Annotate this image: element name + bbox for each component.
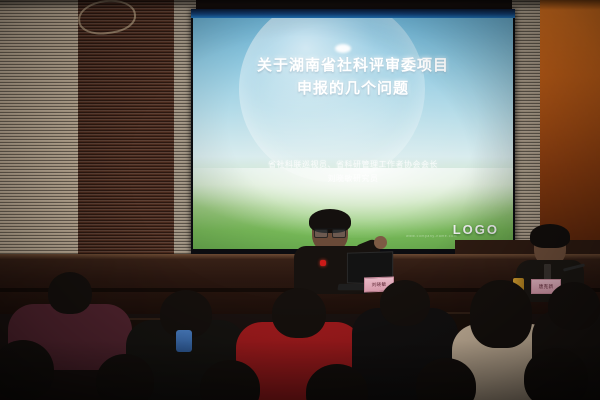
audience-member-head <box>48 272 92 314</box>
slide-subtitle-line-2: 刘晓敏研究员 <box>193 172 513 186</box>
audience-member-head <box>0 340 54 400</box>
slide-subtitle-line-1: 省社科联巡视员、省科研管理工作者协会会长 <box>193 158 513 172</box>
audience-member-head <box>524 348 588 400</box>
audience-member-head <box>470 280 532 348</box>
water-bottle <box>176 330 192 352</box>
audience-member-head <box>548 282 600 330</box>
wall-panel-dark-wood <box>78 0 174 268</box>
panelist-hair <box>530 224 570 248</box>
audience-member-head <box>272 288 326 338</box>
wall-strip-right <box>512 0 540 262</box>
slide-subtitle: 省社科联巡视员、省科研管理工作者协会会长 刘晓敏研究员 <box>193 158 513 186</box>
conference-hall-photo: 关于湖南省社科评审委项目 申报的几个问题 省社科联巡视员、省科研管理工作者协会会… <box>0 0 600 400</box>
audience-area <box>0 268 600 400</box>
glasses-icon <box>314 228 346 235</box>
slide-title-line-2: 申报的几个问题 <box>193 77 513 100</box>
bubble-highlight-icon <box>335 44 351 53</box>
slide-logo-subtext: www.company-name.com <box>406 234 457 238</box>
audience-member-head <box>380 280 430 326</box>
wall-panel-pale-wood <box>0 0 78 268</box>
slide-logo-text: LOGO <box>453 222 499 237</box>
slide-title: 关于湖南省社科评审委项目 申报的几个问题 <box>193 54 513 101</box>
audience-member-head <box>96 354 154 400</box>
red-badge-icon <box>320 260 326 266</box>
slide-title-line-1: 关于湖南省社科评审委项目 <box>193 54 513 77</box>
speaker-hand <box>374 236 387 249</box>
screen-top-band <box>191 9 515 18</box>
